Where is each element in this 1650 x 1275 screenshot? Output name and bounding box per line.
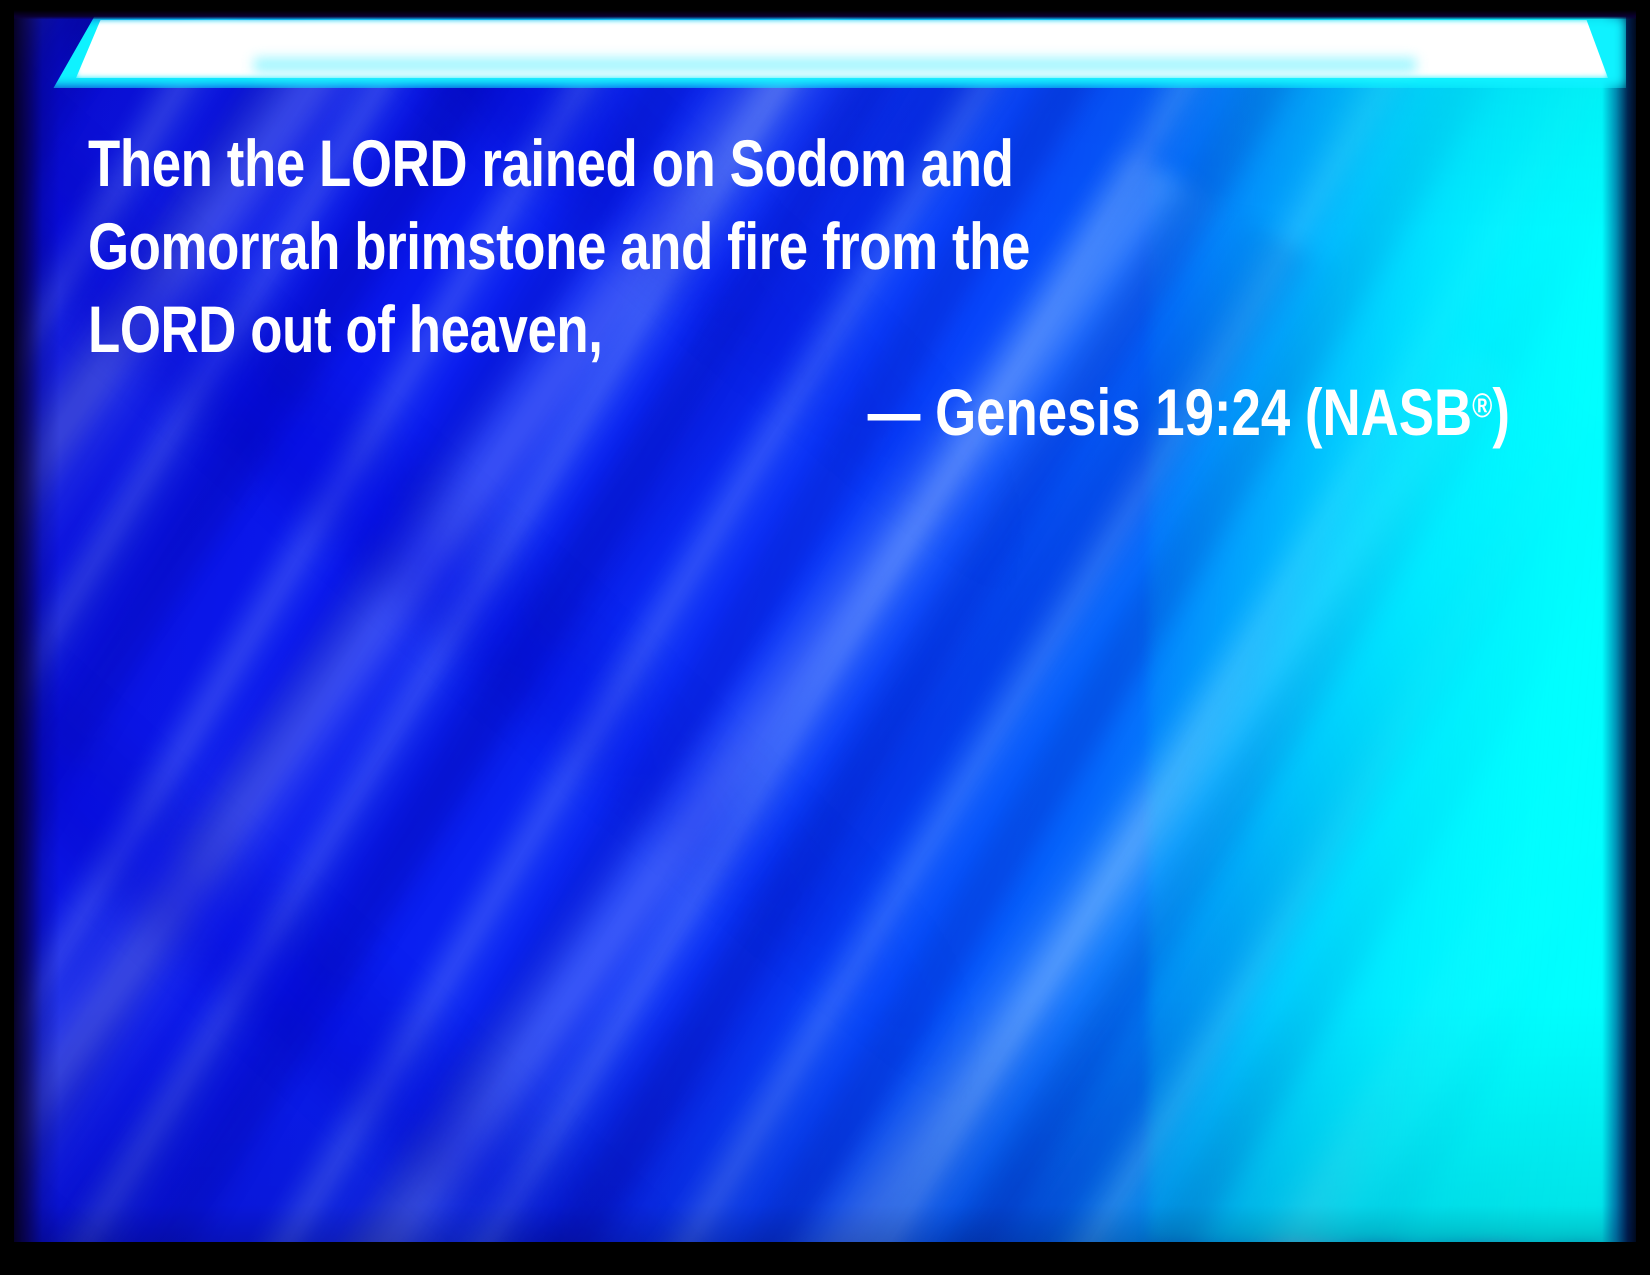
attribution-close-paren: ) xyxy=(1492,375,1510,449)
attribution-open-paren: ( xyxy=(1305,375,1323,449)
verse-line-2: Gomorrah brimstone and fire from the xyxy=(88,213,1030,279)
verse-line-1: Then the LORD rained on Sodom and xyxy=(88,130,1013,196)
attribution-translation: NASB xyxy=(1323,375,1473,449)
registered-trademark-icon: ® xyxy=(1472,387,1492,425)
attribution-reference: 19:24 xyxy=(1155,375,1290,449)
verse-attribution-inner: — Genesis 19:24 (NASB®) xyxy=(868,379,1510,445)
background-left-edge-shadow xyxy=(14,10,60,1242)
attribution-book: Genesis xyxy=(935,375,1140,449)
attribution-dash: — xyxy=(868,375,921,449)
verse-line-3: LORD out of heaven, xyxy=(88,296,603,362)
verse-attribution: — Genesis 19:24 (NASB®) xyxy=(0,379,1510,445)
scripture-slide: Then the LORD rained on Sodom and Gomorr… xyxy=(0,0,1650,1275)
background-right-edge-shadow xyxy=(1602,10,1636,1242)
